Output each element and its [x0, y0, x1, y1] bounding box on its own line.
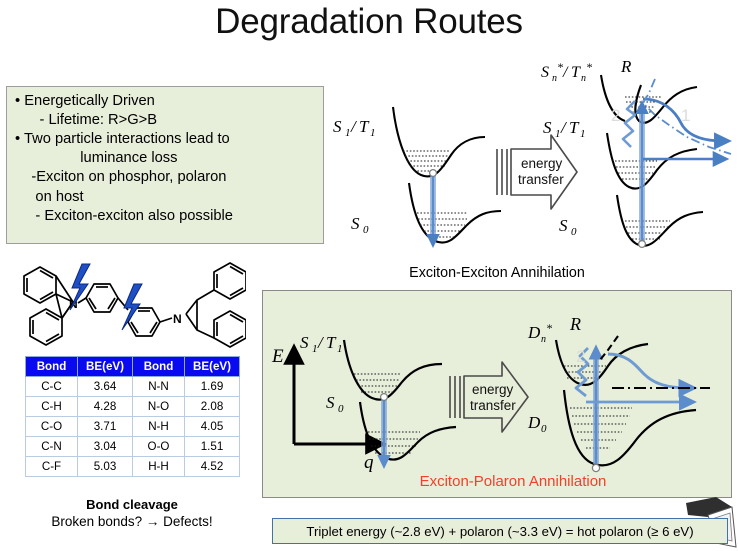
bullet-line: on host [15, 188, 317, 207]
table-row: C-N 3.04 O-O 1.51 [26, 437, 240, 457]
svg-text:/: / [562, 64, 569, 81]
column-header: Bond [26, 357, 78, 377]
table-row: C-O 3.71 N-H 4.05 [26, 417, 240, 437]
svg-text:1: 1 [681, 106, 690, 125]
svg-text:1: 1 [580, 128, 586, 140]
svg-text:1: 1 [345, 127, 351, 139]
table-cell: 3.71 [78, 417, 133, 437]
bullet-line: luminance loss [15, 149, 317, 168]
table-cell: H-H [133, 457, 185, 477]
svg-text:1: 1 [370, 127, 376, 139]
table-cell: 4.28 [78, 397, 133, 417]
exciton-polaron-annihilation-label: Exciton-Polaron Annihilation [388, 473, 638, 490]
bullet-summary-box: • Energetically Driven - Lifetime: R>G>B… [6, 86, 324, 244]
bullet-line: - Lifetime: R>G>B [15, 111, 317, 130]
energy-transfer-label-line1: energy [521, 156, 563, 171]
table-cell: 4.52 [185, 457, 240, 477]
bullet-line: • Energetically Driven [15, 92, 317, 111]
table-cell: 3.04 [78, 437, 133, 457]
exciton-exciton-annihilation-title: Exciton-Exciton Annihilation [262, 265, 732, 281]
svg-text:*: * [586, 60, 592, 74]
table-cell: 1.51 [185, 437, 240, 457]
column-header: Bond [133, 357, 185, 377]
table-cell: O-O [133, 437, 185, 457]
table-cell: C-C [26, 377, 78, 397]
svg-text:n: n [552, 73, 557, 84]
state-label-s0-right: S [559, 216, 568, 235]
table-cell: 2.08 [185, 397, 240, 417]
bond-cleavage-bolt-icon [70, 264, 90, 310]
table-row: C-H 4.28 N-O 2.08 [26, 397, 240, 417]
bond-cleavage-heading: Bond cleavage [25, 497, 239, 512]
state-label-s0-left: S [351, 214, 360, 233]
svg-text:T: T [569, 118, 580, 137]
molecular-structure-diagram: N N [16, 258, 246, 358]
table-cell: 4.05 [185, 417, 240, 437]
column-header: BE(eV) [185, 357, 240, 377]
table-row: C-F 5.03 H-H 4.52 [26, 457, 240, 477]
bond-cleavage-subtext: Broken bonds? → Defects! [20, 514, 244, 529]
table-cell: C-F [26, 457, 78, 477]
svg-text:T: T [359, 117, 370, 136]
table-cell: N-H [133, 417, 185, 437]
exciton-polaron-panel [262, 290, 732, 498]
exciton-exciton-energy-diagram: S 1 / T 1 S 0 energy transfer [325, 55, 738, 250]
bullet-line: -Exciton on phosphor, polaron [15, 168, 317, 187]
summary-caption-text: Triplet energy (~2.8 eV) + polaron (~3.3… [306, 524, 693, 539]
svg-text:*: * [557, 60, 563, 74]
table-cell: 3.64 [78, 377, 133, 397]
svg-text:0: 0 [363, 224, 369, 236]
state-label-s1t1-right: S [543, 118, 552, 137]
table-cell: 1.69 [185, 377, 240, 397]
column-header: BE(eV) [78, 357, 133, 377]
table-cell: 5.03 [78, 457, 133, 477]
bullet-line: - Exciton-exciton also possible [15, 207, 317, 226]
svg-text:1: 1 [555, 128, 561, 140]
reaction-label-r-top: R [620, 57, 632, 76]
svg-text:n: n [581, 73, 586, 84]
page-title: Degradation Routes [0, 2, 738, 42]
table-cell: C-N [26, 437, 78, 457]
bond-energy-table: Bond BE(eV) Bond BE(eV) C-C 3.64 N-N 1.6… [25, 356, 240, 477]
svg-text:/: / [560, 118, 568, 137]
table-cell: N-N [133, 377, 185, 397]
svg-text:T: T [571, 64, 581, 81]
state-label-s1t1-left: S [333, 117, 342, 136]
table-cell: C-H [26, 397, 78, 417]
svg-text:0: 0 [571, 226, 577, 238]
energy-transfer-arrow [511, 135, 577, 209]
bullet-line: • Two particle interactions lead to [15, 130, 317, 149]
nitrogen-atom-label-right: N [173, 312, 182, 326]
svg-text:/: / [350, 117, 358, 136]
table-header-row: Bond BE(eV) Bond BE(eV) [26, 357, 240, 377]
energy-transfer-label-line2: transfer [518, 172, 564, 187]
state-label-sn-tn-right: S [541, 64, 549, 81]
svg-text:2: 2 [611, 106, 620, 125]
table-row: C-C 3.64 N-N 1.69 [26, 377, 240, 397]
table-cell: N-O [133, 397, 185, 417]
table-cell: C-O [26, 417, 78, 437]
summary-caption-box: Triplet energy (~2.8 eV) + polaron (~3.3… [272, 518, 728, 544]
